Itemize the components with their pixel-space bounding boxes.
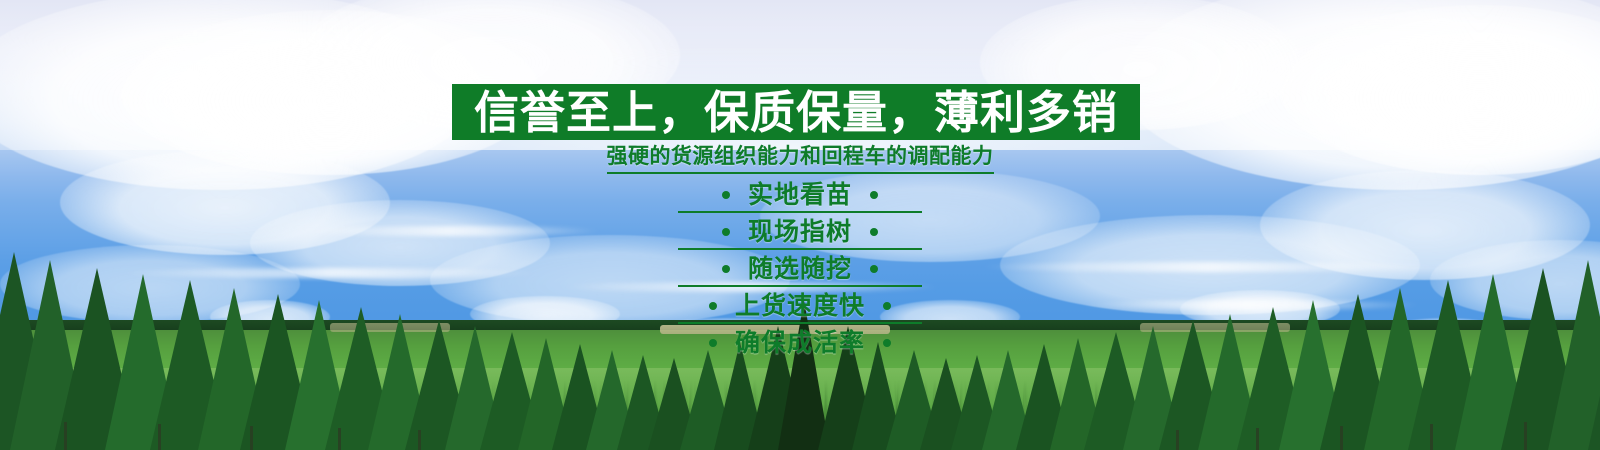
promo-banner: 信誉至上，保质保量，薄利多销 强硬的货源组织能力和回程车的调配能力 实地看苗 现… <box>0 0 1600 450</box>
tree-trunk <box>64 422 67 450</box>
bullet-dot-icon <box>722 228 730 236</box>
feature-item: 上货速度快 <box>630 287 970 324</box>
feature-label: 实地看苗 <box>748 182 852 207</box>
tree-trunk <box>1176 430 1179 450</box>
tree-trunk <box>1256 428 1259 450</box>
cloud-streak <box>300 226 600 236</box>
bullet-dot-icon <box>722 265 730 273</box>
bullet-dot-icon <box>883 339 891 347</box>
feature-label: 确保成活率 <box>735 330 865 355</box>
feature-item: 随选随挖 <box>630 250 970 287</box>
feature-item: 现场指树 <box>630 213 970 250</box>
bullet-dot-icon <box>709 302 717 310</box>
tree-trunk <box>1524 422 1527 450</box>
bullet-dot-icon <box>883 302 891 310</box>
bullet-dot-icon <box>709 339 717 347</box>
headline-text: 信誉至上，保质保量，薄利多销 <box>474 90 1118 135</box>
tree-trunk <box>1340 426 1343 450</box>
feature-item: 确保成活率 <box>630 324 970 361</box>
tree-trunk <box>158 424 161 450</box>
tree-trunk <box>418 430 421 450</box>
headline-bar: 信誉至上，保质保量，薄利多销 <box>452 84 1140 140</box>
subtitle-text: 强硬的货源组织能力和回程车的调配能力 <box>607 144 994 174</box>
feature-label: 现场指树 <box>748 219 852 244</box>
bullet-dot-icon <box>722 191 730 199</box>
subtitle-wrapper: 强硬的货源组织能力和回程车的调配能力 <box>0 144 1600 174</box>
tree-trunk <box>250 426 253 450</box>
feature-label: 随选随挖 <box>748 256 852 281</box>
bullet-dot-icon <box>870 228 878 236</box>
feature-label: 上货速度快 <box>735 293 865 318</box>
tree-trunk <box>1430 424 1433 450</box>
bullet-dot-icon <box>870 265 878 273</box>
feature-item: 实地看苗 <box>630 176 970 213</box>
bullet-dot-icon <box>870 191 878 199</box>
feature-list: 实地看苗 现场指树 随选随挖 上货速度快 确保成活率 <box>630 176 970 361</box>
conifer-tree <box>1588 252 1600 450</box>
tree-trunk <box>338 428 341 450</box>
